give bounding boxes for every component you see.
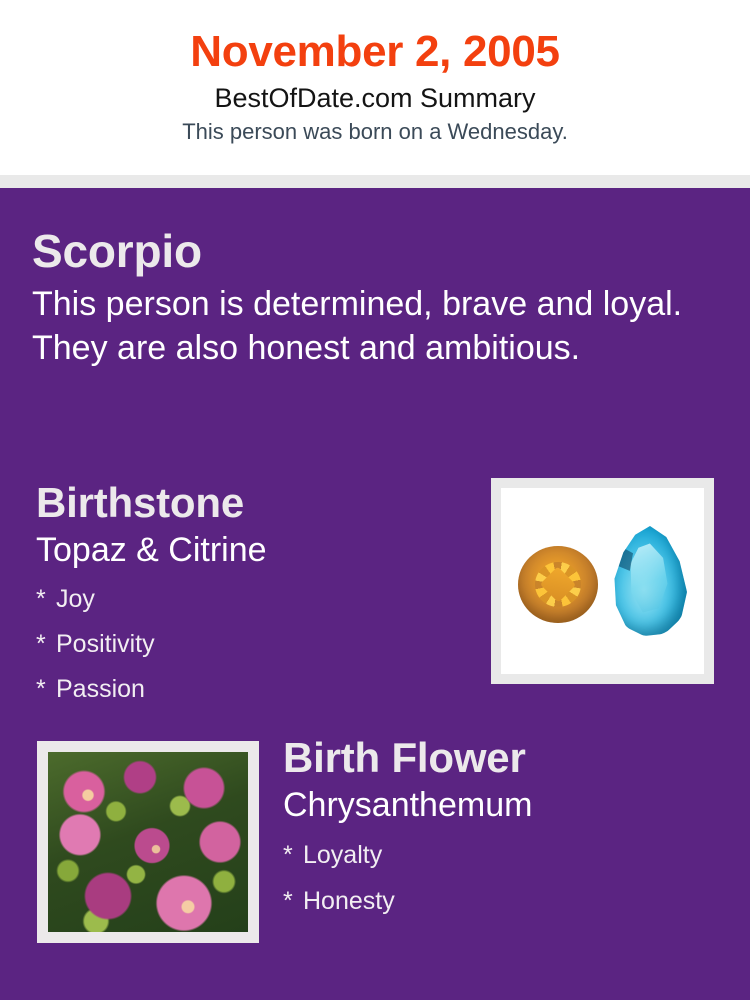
- birthstone-name: Topaz & Citrine: [36, 528, 466, 571]
- list-item: *Loyalty: [283, 832, 723, 878]
- content-area: Scorpio This person is determined, brave…: [0, 188, 750, 1000]
- summary-card: November 2, 2005 BestOfDate.com Summary …: [0, 0, 750, 1000]
- bullet-star-icon: *: [36, 667, 56, 712]
- list-item: *Joy: [36, 577, 466, 622]
- list-item: *Honesty: [283, 878, 723, 924]
- birthstone-section: Birthstone Topaz & Citrine *Joy *Positiv…: [36, 478, 466, 712]
- trait-label: Positivity: [56, 630, 155, 658]
- bullet-star-icon: *: [283, 878, 303, 924]
- list-item: *Positivity: [36, 622, 466, 667]
- zodiac-section: Scorpio This person is determined, brave…: [32, 224, 702, 370]
- born-day-note: This person was born on a Wednesday.: [0, 115, 750, 146]
- trait-label: Loyalty: [303, 841, 382, 869]
- birth-flower-trait-list: *Loyalty *Honesty: [283, 826, 723, 924]
- header: November 2, 2005 BestOfDate.com Summary …: [0, 0, 750, 175]
- birth-flower-section: Birth Flower Chrysanthemum *Loyalty *Hon…: [283, 733, 723, 924]
- bullet-star-icon: *: [283, 832, 303, 878]
- zodiac-sign-name: Scorpio: [32, 224, 702, 278]
- trait-label: Honesty: [303, 887, 395, 915]
- birth-flower-name: Chrysanthemum: [283, 783, 723, 826]
- birth-flower-image-card: [37, 741, 259, 943]
- trait-label: Joy: [56, 585, 95, 613]
- birth-flower-image: [48, 752, 248, 932]
- zodiac-description: This person is determined, brave and loy…: [32, 278, 692, 370]
- topaz-gem-icon: [613, 526, 687, 636]
- bullet-star-icon: *: [36, 622, 56, 667]
- birthstone-trait-list: *Joy *Positivity *Passion: [36, 571, 466, 712]
- list-item: *Passion: [36, 667, 466, 712]
- birthstone-image-card: [491, 478, 714, 684]
- citrine-gem-icon: [518, 546, 598, 623]
- trait-label: Passion: [56, 675, 145, 703]
- site-summary-label: BestOfDate.com Summary: [0, 78, 750, 115]
- page-title: November 2, 2005: [0, 0, 750, 78]
- birthstone-image: [501, 488, 704, 674]
- birthstone-heading: Birthstone: [36, 478, 466, 528]
- birth-flower-heading: Birth Flower: [283, 733, 723, 783]
- header-divider: [0, 175, 750, 188]
- bullet-star-icon: *: [36, 577, 56, 622]
